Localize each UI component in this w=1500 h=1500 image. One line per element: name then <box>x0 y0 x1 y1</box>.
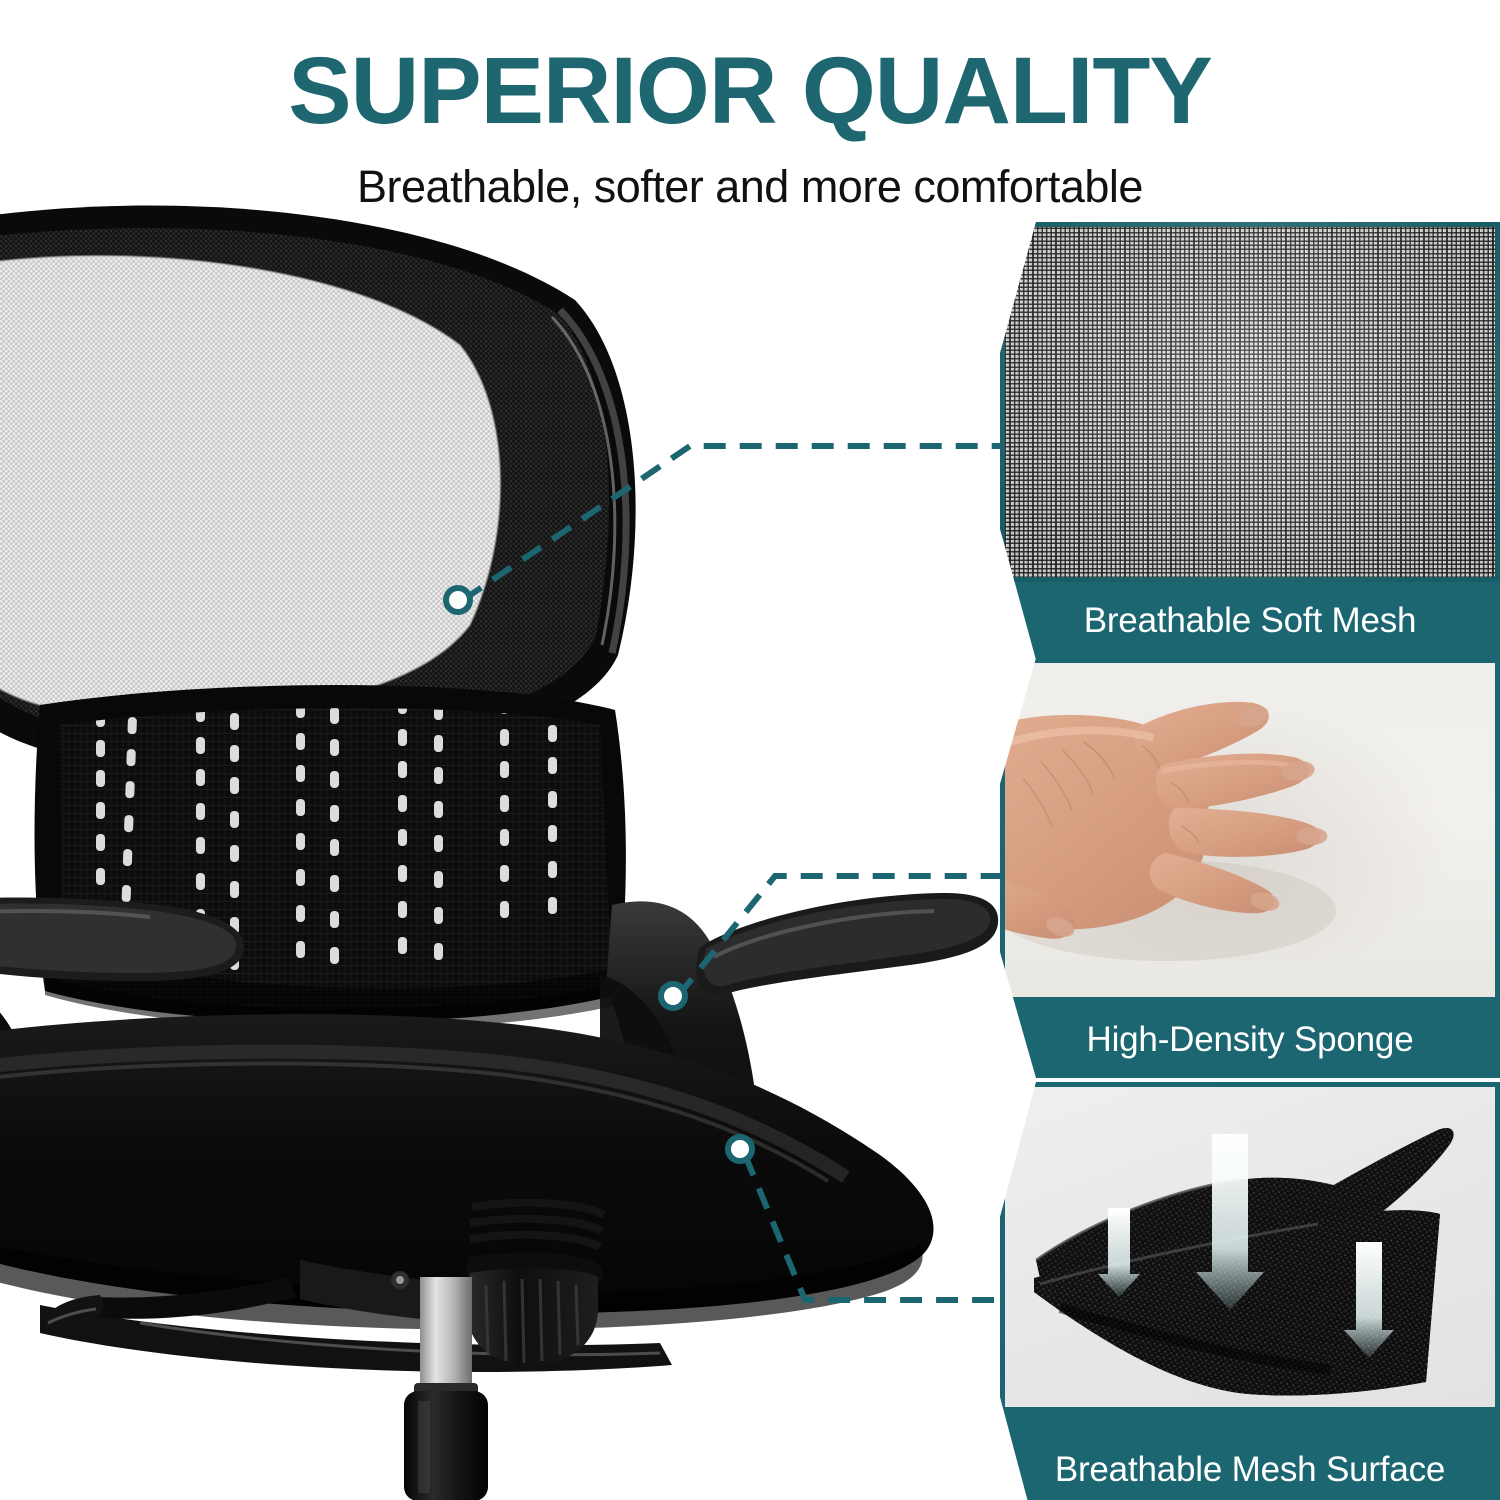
lumbar-mesh-support <box>0 675 700 1055</box>
hand-illustration <box>1000 679 1380 995</box>
product-photo-office-chair <box>0 205 1030 1500</box>
infographic-canvas: SUPERIOR QUALITY Breathable, softer and … <box>0 0 1500 1500</box>
feature-card-banner: Breathable Soft Mesh <box>1000 582 1500 660</box>
feature-card-label: High-Density Sponge <box>1087 1020 1414 1060</box>
hand-on-foam-image <box>1000 658 1500 1002</box>
feature-card-banner: High-Density Sponge <box>1000 1002 1500 1078</box>
feature-card-label: Breathable Soft Mesh <box>1084 601 1417 641</box>
feature-card-banner: Breathable Mesh Surface <box>1000 1412 1500 1500</box>
feature-card-label: Breathable Mesh Surface <box>1055 1450 1445 1490</box>
mesh-layers-airflow-image <box>1000 1082 1500 1412</box>
mesh-layers-illustration <box>1000 1082 1500 1412</box>
feature-card-breathable-soft-mesh[interactable]: Breathable Soft Mesh <box>1000 222 1500 660</box>
header: SUPERIOR QUALITY Breathable, softer and … <box>0 0 1500 213</box>
page-title: SUPERIOR QUALITY <box>0 44 1500 139</box>
feature-card-high-density-sponge[interactable]: High-Density Sponge <box>1000 658 1500 1078</box>
feature-card-breathable-mesh-surface[interactable]: Breathable Mesh Surface <box>1000 1082 1500 1500</box>
mesh-macro-image <box>1000 222 1500 582</box>
